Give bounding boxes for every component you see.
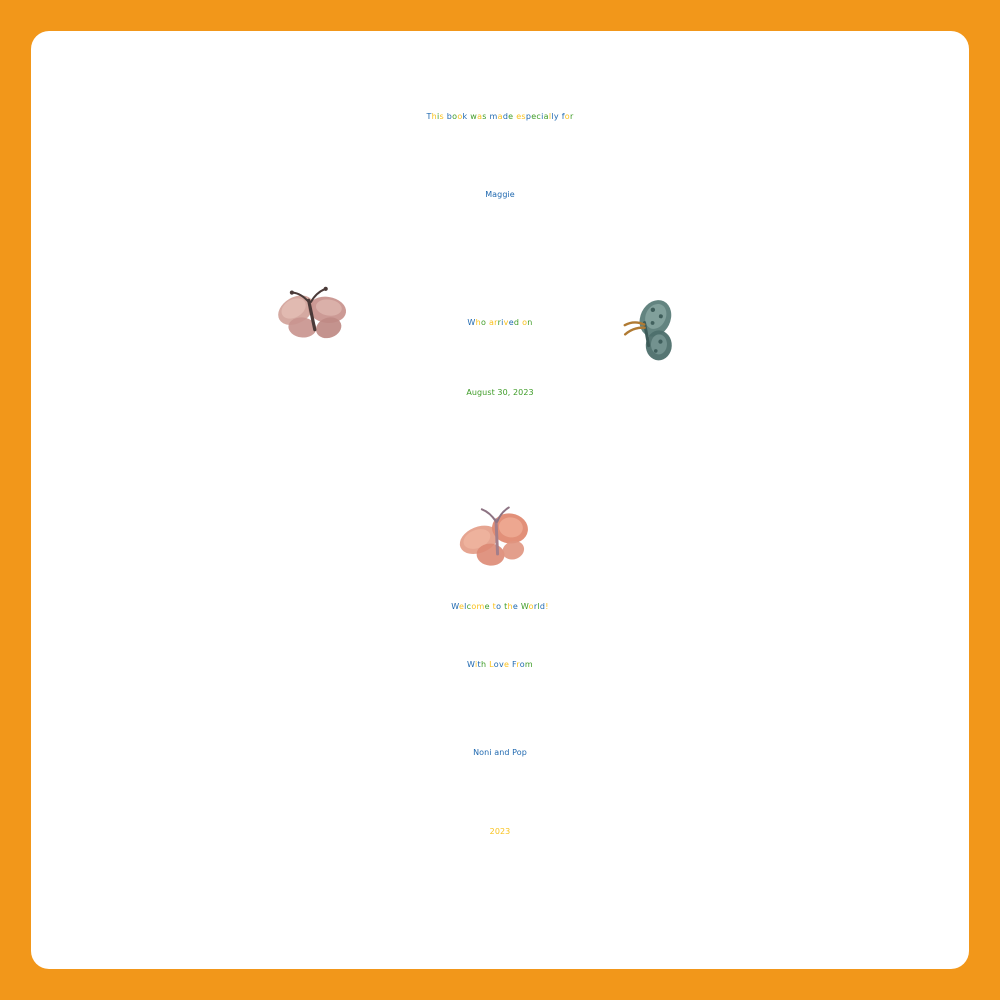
from-names: Noni and Pop <box>31 749 969 757</box>
letter: W <box>467 318 475 327</box>
letter: W <box>467 660 475 669</box>
letter: m <box>525 660 533 669</box>
birth-date: August 30, 2023 <box>31 389 969 397</box>
letter: W <box>521 602 529 611</box>
with-love-line: With Love From <box>31 661 969 669</box>
butterfly-pink-icon <box>273 286 351 348</box>
letter: ! <box>545 602 549 611</box>
welcome-line: Welcome to the World! <box>31 603 969 611</box>
dedication-page: This book was made especially for Maggie <box>0 0 1000 1000</box>
made-for-line: This book was made especially for <box>31 113 969 121</box>
butterfly-coral-icon <box>453 504 539 574</box>
butterfly-teal-icon <box>617 296 687 368</box>
letter: n <box>527 318 532 327</box>
letter: r <box>570 112 574 121</box>
white-card: This book was made especially for Maggie <box>31 31 969 969</box>
letter: W <box>451 602 459 611</box>
from-year: 2023 <box>31 828 969 836</box>
letter: m <box>490 112 498 121</box>
child-name: Maggie <box>31 191 969 199</box>
letter: m <box>477 602 485 611</box>
arrived-on-line: Who arrived on <box>31 319 969 327</box>
